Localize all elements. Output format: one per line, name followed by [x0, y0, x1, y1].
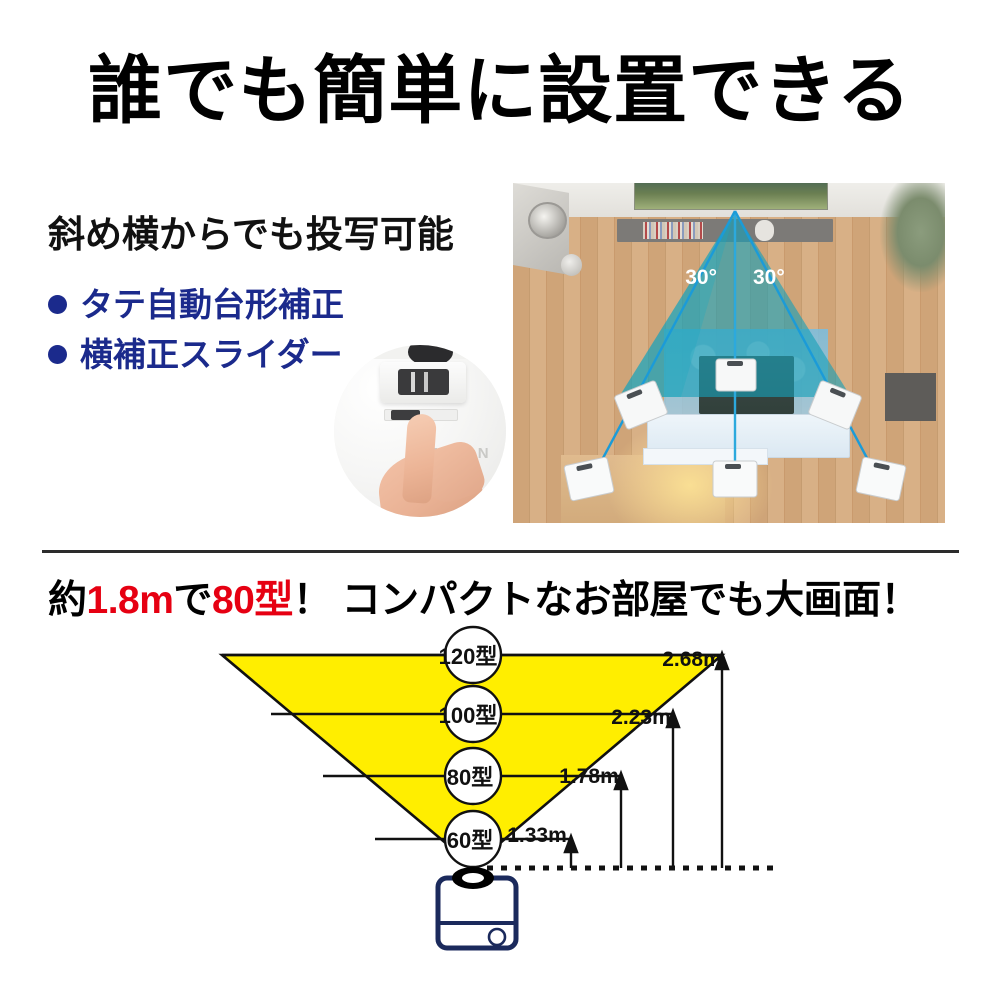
- room-projection-photo: 30° 30°: [513, 183, 945, 523]
- badge-label-120: 120型: [439, 644, 498, 669]
- projector-icon: [438, 867, 516, 948]
- angle-label-left: 30°: [685, 266, 717, 289]
- badge-label-100: 100型: [439, 703, 498, 728]
- diagram-svg: 120型 100型 80型 60型 1.33m 1.78m 2.23m 2.68…: [0, 620, 1000, 1000]
- finger-photo: [401, 413, 436, 504]
- bullet-label: 横補正スライダー: [80, 338, 343, 371]
- headline-part-2: で: [173, 579, 212, 622]
- badge-label-80: 80型: [447, 765, 493, 790]
- bullet-dot-icon: [48, 345, 67, 364]
- distance-label-223: 2.23m: [611, 706, 671, 729]
- headline-part-4: ！ コンパクトなお部屋でも大画面！: [293, 579, 919, 622]
- bullet-dot-icon: [48, 295, 67, 314]
- distance-label-268: 2.68m: [662, 648, 722, 671]
- angle-label-right: 30°: [753, 266, 785, 289]
- headline-part-0: 約: [48, 579, 87, 622]
- list-item: タテ自動台形補正: [48, 288, 344, 321]
- section1-subheading: 斜め横からでも投写可能: [48, 204, 454, 258]
- throw-distance-diagram: 120型 100型 80型 60型 1.33m 1.78m 2.23m 2.68…: [0, 620, 1000, 1000]
- slider-photo-inset: EPSON: [334, 345, 506, 517]
- projector-unit-center-top: [716, 359, 756, 391]
- infographic-page: 誰でも簡単に設置できる 斜め横からでも投写可能 タテ自動台形補正 横補正スライダ…: [0, 0, 1000, 1000]
- projector-unit-center-bottom: [713, 461, 757, 497]
- projector-unit-left-bottom: [564, 457, 615, 501]
- badge-label-60: 60型: [447, 828, 493, 853]
- feature-bullet-list: タテ自動台形補正 横補正スライダー: [48, 288, 344, 388]
- projection-beam-overlay: 30° 30°: [513, 183, 945, 523]
- headline-part-distance: 1.8m: [87, 579, 174, 622]
- page-title: 誰でも簡単に設置できる: [0, 52, 1000, 130]
- section-divider: [42, 550, 959, 553]
- projector-panel-window: [398, 369, 450, 395]
- list-item: 横補正スライダー: [48, 338, 344, 371]
- bullet-label: タテ自動台形補正: [80, 288, 344, 321]
- projector-dial-icon: [489, 929, 505, 945]
- distance-label-178: 1.78m: [559, 765, 619, 788]
- headline-part-size: 80型: [212, 579, 293, 622]
- projector-unit-right-bottom: [856, 457, 907, 501]
- section2-headline: 約1.8mで80型！ コンパクトなお部屋でも大画面！: [48, 569, 919, 625]
- distance-label-133: 1.33m: [507, 824, 567, 847]
